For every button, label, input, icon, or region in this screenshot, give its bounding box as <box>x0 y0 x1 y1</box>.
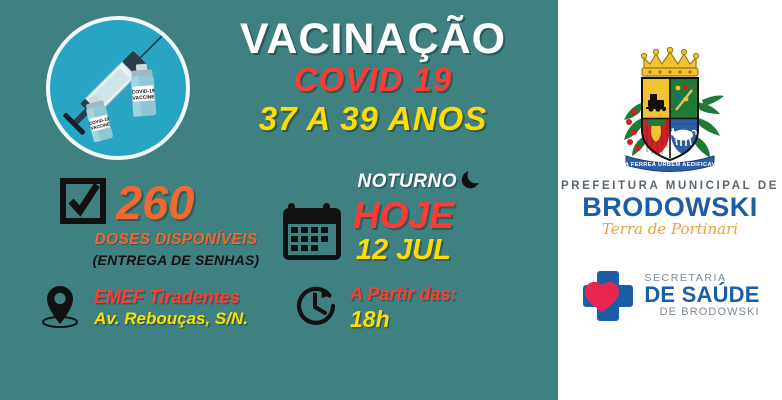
location-name: EMEF Tiradentes <box>94 286 248 309</box>
main-teal-panel: COVID-19 VACCINE COVID-19 VACCINE VACINA… <box>0 0 558 400</box>
shield-shape <box>642 78 698 160</box>
headline-line-age-range: 37 A 39 ANOS <box>198 100 548 139</box>
doses-available-label: DOSES DISPONÍVEIS <box>60 231 292 249</box>
secretaria-sub-label: DE BRODOWSKI <box>644 307 759 318</box>
secretaria-saude-texts: SECRETARIA DE SAÚDE DE BRODOWSKI <box>644 273 759 319</box>
crown-shape <box>641 47 698 76</box>
headline-line-covid: COVID 19 <box>198 61 548 100</box>
vaccine-vials-syringe-graphic: COVID-19 VACCINE COVID-19 VACCINE <box>50 20 186 156</box>
vaccination-poster: COVID-19 VACCINE COVID-19 VACCINE VACINA… <box>0 0 782 400</box>
headline-block: VACINAÇÃO COVID 19 37 A 39 ANOS <box>198 18 548 139</box>
calendar-icon <box>283 200 345 267</box>
date-row: HOJE 12 JUL <box>283 197 513 267</box>
headline-line-vacinacao: VACINAÇÃO <box>198 18 548 61</box>
date-today-label: HOJE <box>353 197 454 234</box>
night-shift-label: NOTURNO <box>357 171 457 193</box>
prefeitura-city-name: BRODOWSKI <box>558 194 782 221</box>
location-info-block: EMEF Tiradentes Av. Rebouças, S/N. <box>36 282 248 335</box>
time-texts: A Partir das: 18h <box>350 283 456 334</box>
clock-arrow-icon <box>292 283 340 334</box>
prefeitura-top-label: PREFEITURA MUNICIPAL DE <box>558 180 782 193</box>
date-day-value: 12 JUL <box>353 234 454 267</box>
doses-ticket-note: (ENTREGA DE SENHAS) <box>60 252 292 268</box>
checkbox-checked-icon <box>60 178 106 229</box>
doses-count-value: 260 <box>116 181 194 226</box>
location-address: Av. Rebouças, S/N. <box>94 308 248 329</box>
svg-text:VIA FERREA URBEM AEDIFICAVIT: VIA FERREA URBEM AEDIFICAVIT <box>619 162 722 168</box>
covid-vaccine-illustration-icon: COVID-19 VACCINE COVID-19 VACCINE <box>46 16 190 160</box>
time-value: 18h <box>350 306 456 334</box>
secretaria-main-label: DE SAÚDE <box>644 284 759 306</box>
brodowski-coat-of-arms-icon: VIA FERREA URBEM AEDIFICAVIT <box>610 44 730 177</box>
night-shift-row: NOTURNO <box>283 168 513 195</box>
location-texts: EMEF Tiradentes Av. Rebouças, S/N. <box>94 286 248 332</box>
branding-panel: VIA FERREA URBEM AEDIFICAVIT PREFEITURA … <box>558 0 782 400</box>
crescent-moon-icon <box>461 168 483 195</box>
date-texts: HOJE 12 JUL <box>353 197 454 267</box>
prefeitura-logo: PREFEITURA MUNICIPAL DE BRODOWSKI Terra … <box>558 180 782 238</box>
doses-info-block: 260 DOSES DISPONÍVEIS (ENTREGA DE SENHAS… <box>60 178 300 268</box>
time-info-block: A Partir das: 18h <box>292 283 456 334</box>
health-cross-heart-icon <box>580 265 638 326</box>
prefeitura-tagline: Terra de Portinari <box>558 220 782 238</box>
doses-count-row: 260 <box>60 178 300 229</box>
time-label: A Partir das: <box>350 283 456 306</box>
date-info-block: NOTURNO <box>283 168 513 267</box>
map-pin-icon <box>36 282 84 335</box>
secretaria-saude-logo: SECRETARIA DE SAÚDE DE BRODOWSKI <box>558 265 782 326</box>
